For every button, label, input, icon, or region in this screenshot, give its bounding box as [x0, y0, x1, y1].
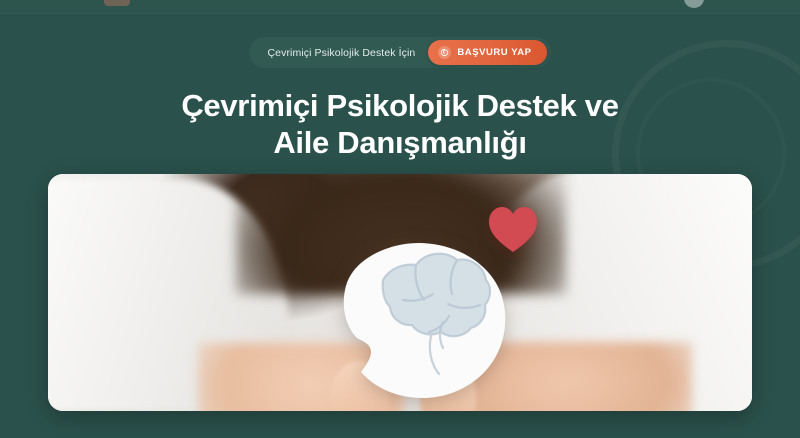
site-logo[interactable]: [104, 0, 130, 6]
cta-pill-label: Çevrimiçi Psikolojik Destek İçin: [267, 47, 428, 59]
page-title-line-1: Çevrimiçi Psikolojik Destek ve: [181, 88, 618, 123]
cta-pill: Çevrimiçi Psikolojik Destek İçin BAŞVURU…: [249, 37, 550, 68]
hero-media-card[interactable]: Zorlayıcı dönemlerde Profesyonel Destek …: [48, 174, 752, 411]
page-title: Çevrimiçi Psikolojik Destek ve Aile Danı…: [0, 88, 800, 162]
apply-button-label: BAŞVURU YAP: [457, 47, 531, 58]
page-title-line-2: Aile Danışmanlığı: [273, 125, 526, 160]
top-navigation-bar: [0, 0, 800, 14]
apply-button[interactable]: BAŞVURU YAP: [428, 40, 546, 65]
brain-icon: [335, 240, 511, 400]
heart-icon: [487, 205, 539, 255]
spiral-icon: [438, 46, 451, 59]
